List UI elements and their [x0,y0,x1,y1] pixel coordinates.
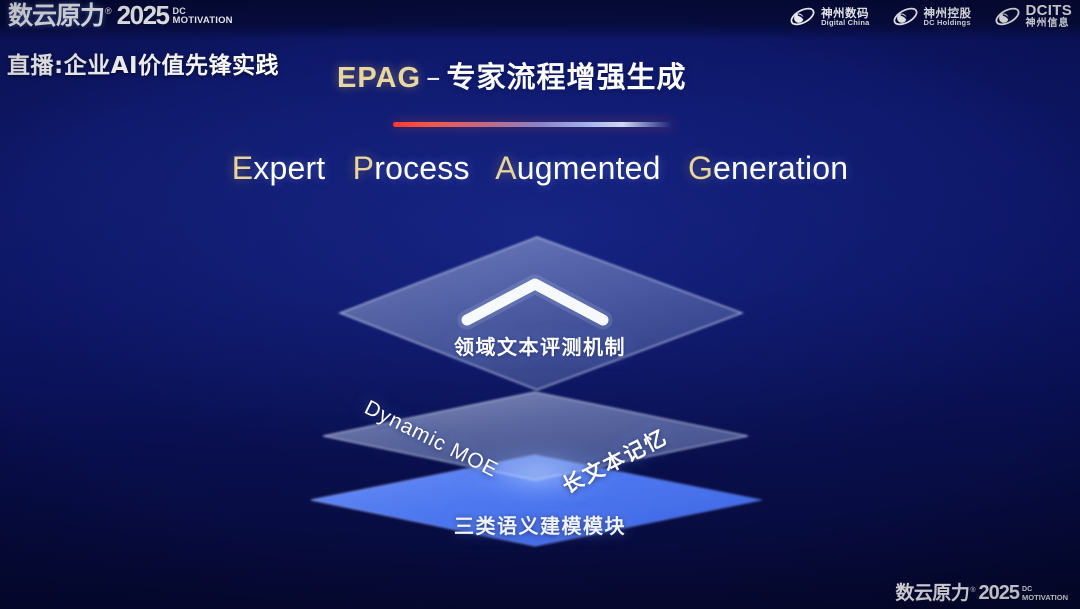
swirl-logo-icon [892,3,919,30]
swirl-logo-icon [994,3,1021,30]
chevron-up-icon [455,272,615,337]
title-divider [393,122,673,127]
event-logo-year: 2025 [117,2,169,28]
subtitle-space [334,150,343,186]
logo-digital-china-cn: 神州数码 [821,7,869,19]
page-title-chinese: 专家流程增强生成 [447,60,687,94]
logo-dc-holdings-en: DC Holdings [924,19,972,27]
footer-watermark: 数云原力 ® 2025 DC MOTIVATION [895,583,1068,603]
logo-dcits: DCITS 神州信息 [994,3,1073,30]
subtitle-word-generation: Generation [688,150,848,186]
subtitle-space [670,150,679,186]
event-logo: 数云原力 ® 2025 DC MOTIVATION [8,2,233,28]
center-glow [430,430,650,520]
page-title-dash: – [421,60,447,94]
layer-middle-right-label: 长文本记忆 [556,421,672,500]
logo-digital-china-en: Digital China [821,19,869,27]
logo-digital-china: 神州数码 Digital China [789,3,869,30]
layer-top-label: 领域文本评测机制 [0,331,1080,360]
event-logo-cn: 数云原力 [8,3,104,28]
page-title: EPAG–专家流程增强生成 [337,54,687,96]
subtitle-space [479,150,488,186]
sponsor-logos: 神州数码 Digital China 神州控股 DC Holdings [789,3,1072,30]
page-subtitle: Expert Process Augmented Generation [0,150,1080,187]
live-session-title: 直播:企业AI价值先锋实践 [7,46,279,80]
watermark-year: 2025 [979,583,1020,603]
registered-mark: ® [105,7,112,16]
watermark-motivation: MOTIVATION [1022,594,1068,601]
subtitle-word-augmented: Augmented [495,150,660,186]
page-title-acronym: EPAG [337,62,421,94]
layer-middle-left-label: Dynamic MOE [360,396,502,483]
logo-dc-holdings-cn: 神州控股 [924,7,972,19]
logo-dc-holdings: 神州控股 DC Holdings [892,3,972,30]
watermark-cn: 数云原力 [895,584,969,603]
logo-dcits-cn: 神州信息 [1026,19,1073,30]
event-logo-dc-motivation: DC MOTIVATION [173,7,233,25]
event-logo-motivation: MOTIVATION [173,16,233,25]
layer-bottom-label: 三类语义建模模块 [0,510,1080,539]
watermark-dc-motivation: DC MOTIVATION [1022,587,1068,601]
swirl-logo-icon [789,3,816,30]
watermark-registered: ® [970,587,975,594]
slide-canvas: 领域文本评测机制 Dynamic MOE 长文本记忆 三类语义建模模块 数云原力… [0,0,1080,609]
subtitle-word-expert: Expert [232,150,326,186]
subtitle-word-process: Process [353,150,470,186]
logo-dcits-en: DCITS [1026,3,1073,19]
